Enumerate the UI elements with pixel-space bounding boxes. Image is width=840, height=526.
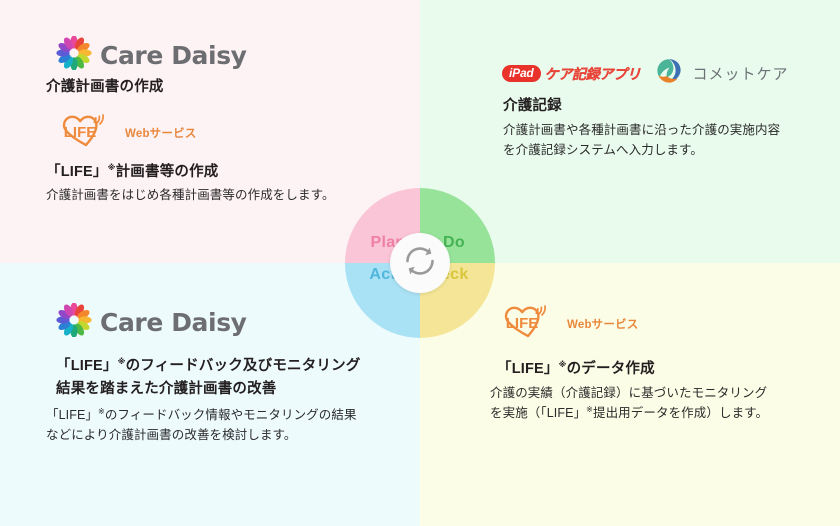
action-heading-pre: 「LIFE」 <box>56 358 118 374</box>
action-body-line1: 「LIFE」※のフィードバック情報やモニタリングの結果 <box>46 405 396 425</box>
plan-heading: 「LIFE」※計画書等の作成 <box>46 162 219 184</box>
action-body-sup: ※ <box>98 407 105 416</box>
check-heading-sup: ※ <box>559 360 567 369</box>
check-body: 介護の実績（介護記録）に基づいたモニタリング を実施（「LIFE」※提出用データ… <box>490 383 830 424</box>
wheel-hub <box>390 233 450 293</box>
do-body-line2: を介護記録システムへ入力します。 <box>503 140 823 160</box>
action-heading: 「LIFE」※のフィードバック及びモニタリング 結果を踏まえた介護計画書の改善 <box>56 355 406 402</box>
svg-text:LIFE: LIFE <box>64 124 97 141</box>
plan-logo-life: LIFE Webサービス <box>56 112 196 153</box>
check-body-line1: 介護の実績（介護記録）に基づいたモニタリング <box>490 383 830 403</box>
do-heading: 介護記録 <box>503 96 562 118</box>
svg-text:LIFE: LIFE <box>506 315 539 332</box>
check-body-line2-b: 提出用データを作成）します。 <box>593 406 768 420</box>
do-body: 介護計画書や各種計画書に沿った介護の実施内容 を介護記録システムへ入力します。 <box>503 120 823 161</box>
check-body-line2-a: を実施（「LIFE」 <box>490 406 586 420</box>
check-body-line2: を実施（「LIFE」※提出用データを作成）します。 <box>490 403 830 423</box>
pdca-infographic: Care Daisy 介護計画書の作成 LIFE Webサービス 「LIFE」※… <box>0 0 840 526</box>
life-web-service-label: Webサービス <box>125 125 196 141</box>
care-daisy-wordmark: Care Daisy <box>100 41 247 70</box>
check-heading-pre: 「LIFE」 <box>497 361 559 377</box>
care-daisy-wordmark: Care Daisy <box>100 308 247 337</box>
check-body-line2-sup: ※ <box>586 405 593 414</box>
action-body-line2: などにより介護計画書の改善を検討します。 <box>46 425 396 445</box>
plan-heading-sup: ※ <box>108 163 116 172</box>
check-logo-life: LIFE Webサービス <box>498 303 638 344</box>
action-body-pre: 「LIFE」 <box>46 408 98 422</box>
plan-heading-post: 計画書等の作成 <box>116 164 219 180</box>
ipad-badge: iPad <box>502 65 541 82</box>
plan-logo-care-daisy: Care Daisy <box>56 36 247 75</box>
action-heading-post: のフィードバック及びモニタリング <box>126 358 361 374</box>
plan-subtitle: 介護計画書の作成 <box>46 77 164 99</box>
action-heading-line2: 結果を踏まえた介護計画書の改善 <box>56 378 406 401</box>
plan-heading-pre: 「LIFE」 <box>46 164 108 180</box>
care-daisy-flower-icon <box>56 303 92 342</box>
action-heading-line1: 「LIFE」※のフィードバック及びモニタリング <box>56 355 406 378</box>
life-web-service-label: Webサービス <box>567 316 638 332</box>
check-heading: 「LIFE」※のデータ作成 <box>497 359 655 381</box>
plan-body: 介護計画書をはじめ各種計画書等の作成をします。 <box>46 185 335 205</box>
life-heart-icon: LIFE <box>56 112 118 153</box>
check-heading-post: のデータ作成 <box>567 361 655 377</box>
comet-care-icon <box>656 58 682 89</box>
do-logo-row: iPad ケア記録アプリ コメットケア <box>502 58 788 89</box>
refresh-cycle-icon <box>400 241 440 286</box>
action-body-post: のフィードバック情報やモニタリングの結果 <box>105 408 357 422</box>
action-heading-sup: ※ <box>118 357 126 366</box>
comet-care-wordmark: コメットケア <box>692 63 788 84</box>
care-daisy-flower-icon <box>56 36 92 75</box>
do-body-line1: 介護計画書や各種計画書に沿った介護の実施内容 <box>503 120 823 140</box>
action-body: 「LIFE」※のフィードバック情報やモニタリングの結果 などにより介護計画書の改… <box>46 405 396 446</box>
care-record-app-label: ケア記録アプリ <box>545 64 641 84</box>
life-heart-icon: LIFE <box>498 303 560 344</box>
action-logo-care-daisy: Care Daisy <box>56 303 247 342</box>
